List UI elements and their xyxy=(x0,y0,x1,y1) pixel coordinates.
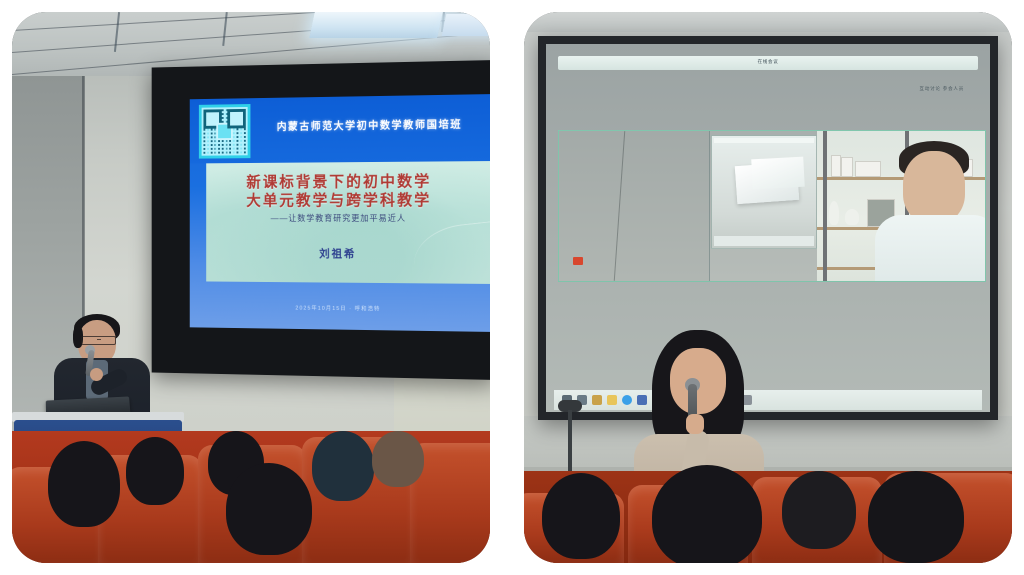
slide-author: 刘祖希 xyxy=(190,245,490,262)
meeting-window-titlebar[interactable]: 在线会议 xyxy=(558,56,978,70)
slide-footer: 2025年10月15日 · 呼和浩特 xyxy=(190,302,490,314)
left-photo[interactable]: 内蒙古师范大学初中数学教师国培班 新课标背景下的初中数学 大单元教学与跨学科教学… xyxy=(12,12,490,563)
remote-participant-video[interactable] xyxy=(817,131,985,281)
right-photo[interactable]: 在线会议 互动讨论 参会人员 xyxy=(524,12,1012,563)
ceiling-light xyxy=(309,12,443,38)
audience-head xyxy=(372,431,424,487)
audience-head xyxy=(542,473,620,559)
projection-screen: 在线会议 互动讨论 参会人员 xyxy=(538,36,998,420)
audience-head xyxy=(48,441,120,527)
audience-head xyxy=(868,471,964,563)
collage-canvas: 内蒙古师范大学初中数学教师国培班 新课标背景下的初中数学 大单元教学与跨学科教学… xyxy=(0,0,1024,575)
speaker-hand xyxy=(686,414,704,434)
qr-code-icon xyxy=(199,104,251,159)
audience-seating xyxy=(12,431,490,563)
screen-share-pane[interactable] xyxy=(559,131,710,281)
browser-icon[interactable] xyxy=(622,395,632,405)
recording-badge-icon xyxy=(573,257,583,265)
ceiling-light-secondary xyxy=(442,14,490,36)
desk-microphone-stand xyxy=(568,410,572,476)
file-explorer-icon[interactable] xyxy=(592,395,602,405)
remote-participant-face xyxy=(903,151,965,223)
audience-head xyxy=(126,437,184,505)
audience-head xyxy=(226,463,312,555)
speaker-hand xyxy=(90,368,103,381)
audience-head xyxy=(782,471,856,549)
audience-seating xyxy=(524,471,1012,563)
slide-title-line-2: 大单元教学与跨学科教学 xyxy=(190,191,490,210)
remote-participant-shirt xyxy=(875,215,985,281)
shared-screen-thumbnail[interactable] xyxy=(711,135,817,249)
audience-head xyxy=(652,465,762,563)
meeting-toolbar-right[interactable]: 互动讨论 参会人员 xyxy=(920,86,964,92)
slide-title: 新课标背景下的初中数学 大单元教学与跨学科教学 xyxy=(190,172,490,210)
projection-screen: 内蒙古师范大学初中数学教师国培班 新课标背景下的初中数学 大单元教学与跨学科教学… xyxy=(152,60,490,380)
qr-center-logo xyxy=(216,123,233,141)
slide-header-text: 内蒙古师范大学初中数学教师国培班 xyxy=(256,116,484,134)
speaker-glasses xyxy=(81,336,116,345)
meeting-window-title: 在线会议 xyxy=(558,59,978,65)
slide-title-line-1: 新课标背景下的初中数学 xyxy=(190,172,490,192)
folder-icon[interactable] xyxy=(607,395,617,405)
slide-subtitle: ——让数学教育研究更加平易近人 xyxy=(190,212,490,224)
meeting-video-area xyxy=(558,130,986,282)
projected-desktop: 在线会议 互动讨论 参会人员 xyxy=(546,44,990,412)
windows-taskbar[interactable] xyxy=(554,390,982,410)
presentation-slide: 内蒙古师范大学初中数学教师国培班 新课标背景下的初中数学 大单元教学与跨学科教学… xyxy=(190,94,490,332)
audience-head xyxy=(312,431,374,501)
